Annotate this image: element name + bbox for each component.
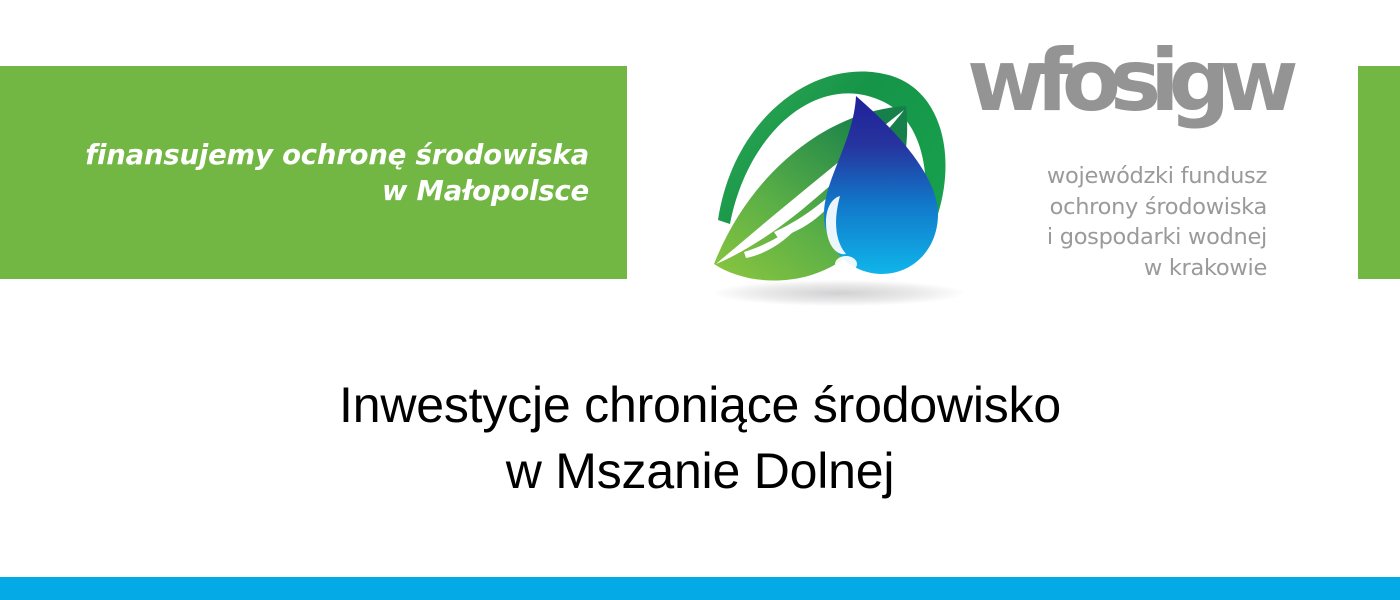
logo-subtitle: wojewódzki fundusz ochrony środowiska i … — [962, 161, 1267, 283]
slogan-line-2: w Małopolsce — [382, 173, 589, 209]
logo-subtitle-line-4: w krakowie — [962, 253, 1267, 284]
logo-acronym-text: wfosigw — [967, 26, 1288, 136]
logo-subtitle-line-3: i gospodarki wodnej — [962, 222, 1267, 253]
right-green-accent-block — [1358, 66, 1400, 279]
leaf-and-water-drop-icon — [700, 18, 960, 308]
logo-subtitle-line-2: ochrony środowiska — [962, 192, 1267, 223]
logo-subtitle-line-1: wojewódzki fundusz — [962, 161, 1267, 192]
logo-acronym: wfosigw — [962, 26, 1282, 136]
slogan-banner: finansujemy ochronę środowiska w Małopol… — [0, 66, 627, 279]
footer-accent-bar — [0, 577, 1400, 600]
slogan-line-1: finansujemy ochronę środowiska — [85, 137, 589, 173]
wfosigw-logo: wfosigw wojewódzki fundusz ochrony środo… — [700, 18, 1300, 308]
page-title-line-2: w Mszanie Dolnej — [0, 438, 1400, 504]
page-title-line-1: Inwestycje chroniące środowisko — [0, 372, 1400, 438]
drop-highlight-dot — [835, 256, 857, 272]
logo-wordmark: wfosigw wojewódzki fundusz ochrony środo… — [962, 18, 1282, 298]
page-title: Inwestycje chroniące środowisko w Mszani… — [0, 372, 1400, 504]
